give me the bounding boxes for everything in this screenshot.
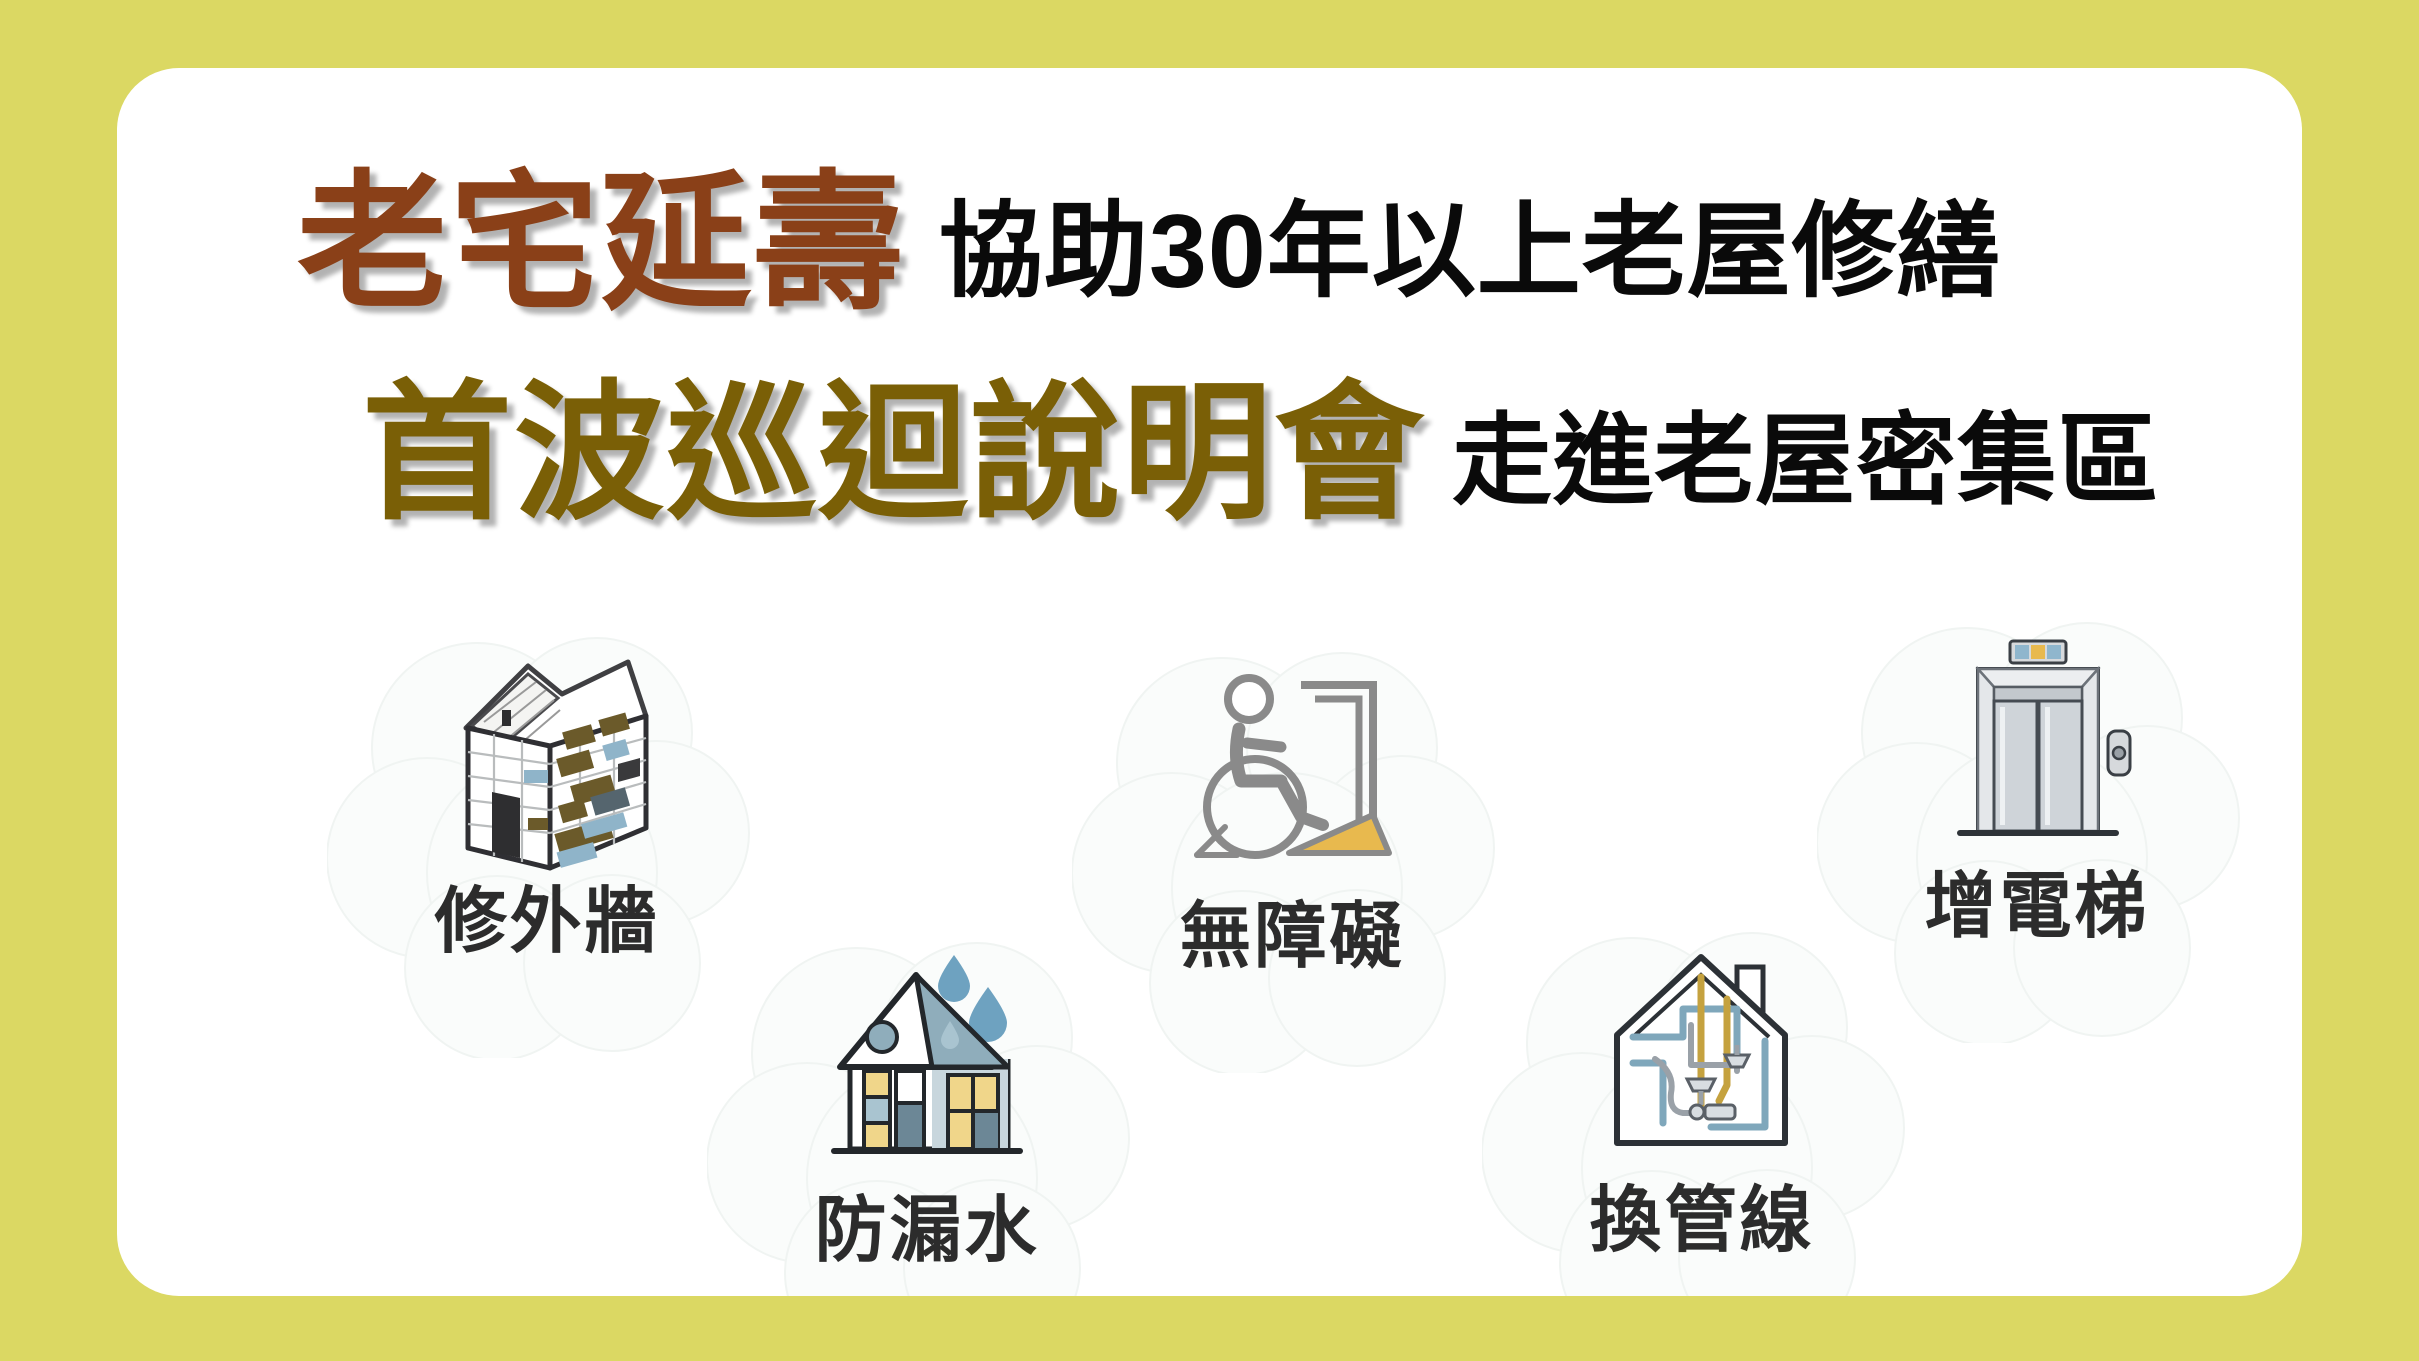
headline-subtitle-primary: 協助30年以上老屋修繕 — [939, 200, 2002, 304]
poster-canvas: 老宅延壽 協助30年以上老屋修繕 首波巡迴說明會 走進老屋密集區 — [0, 0, 2419, 1361]
headline-subtitle-secondary: 走進老屋密集區 — [1452, 411, 2159, 511]
poster-card: 老宅延壽 協助30年以上老屋修繕 首波巡迴說明會 走進老屋密集區 — [117, 68, 2302, 1296]
feature-label-pipes: 換管線 — [1482, 1185, 1922, 1257]
feature-item-pipes: 換管線 — [1482, 923, 1922, 1296]
damaged-brick-house-icon — [432, 642, 662, 880]
headline-row-1: 老宅延壽 協助30年以上老屋修繕 — [297, 168, 2002, 318]
elevator-icon — [1922, 627, 2152, 865]
feature-label-wall: 修外牆 — [327, 886, 767, 958]
wheelchair-ramp-icon — [1177, 657, 1407, 895]
headline-brand-secondary: 首波巡迴說明會 — [362, 378, 1426, 528]
feature-item-wall: 修外牆 — [327, 628, 767, 1058]
house-water-drop-icon — [812, 947, 1042, 1185]
feature-label-leak: 防漏水 — [707, 1195, 1147, 1267]
headline-brand-primary: 老宅延壽 — [297, 168, 905, 318]
headline-row-2: 首波巡迴說明會 走進老屋密集區 — [362, 378, 2159, 528]
feature-item-leak: 防漏水 — [707, 933, 1147, 1296]
house-plumbing-icon — [1587, 937, 1817, 1175]
